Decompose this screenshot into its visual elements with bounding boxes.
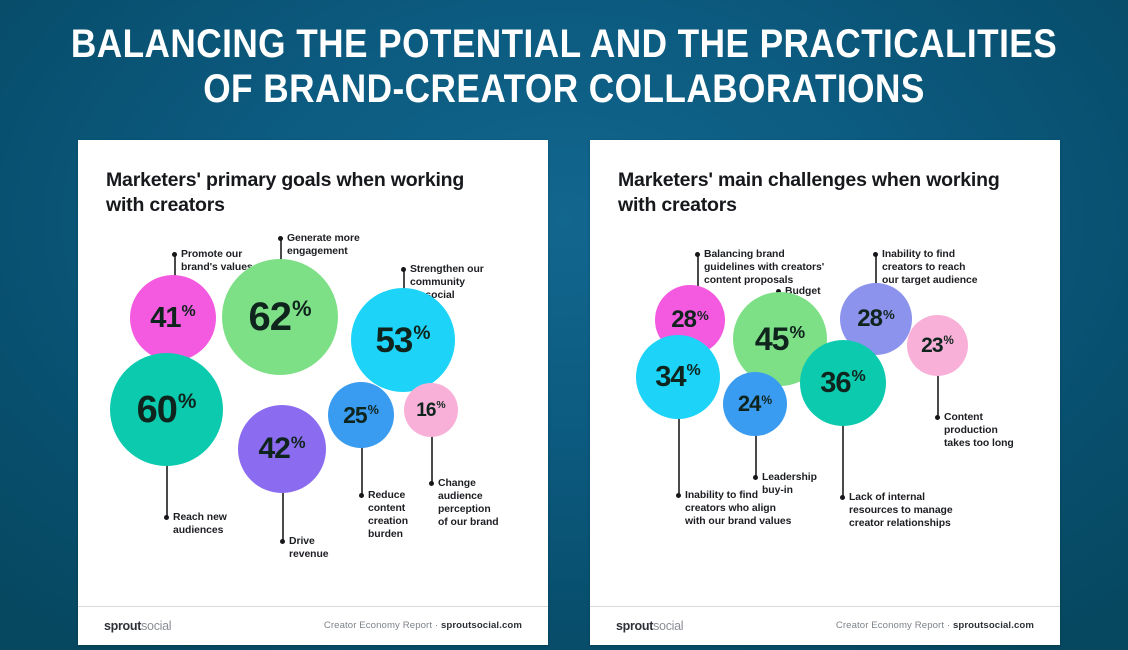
bubble-value-16: 16 bbox=[416, 401, 435, 420]
bubble-value-28-balancing: 28 bbox=[671, 308, 696, 332]
bubble-label-inability-find-creators-audience: Inability to find creators to reach our … bbox=[882, 248, 1037, 287]
leader-dot-inability-creators-align bbox=[676, 493, 681, 498]
panel-right-chart: Balancing brand guidelines with creators… bbox=[590, 235, 1060, 607]
bubble-value-23: 23 bbox=[921, 335, 942, 356]
bubble-value-28-inability: 28 bbox=[857, 307, 882, 331]
panel-left-heading: Marketers' primary goals when working wi… bbox=[106, 168, 506, 218]
leader-dot-balancing-brand-guidelines bbox=[695, 252, 700, 257]
logo-social: social bbox=[141, 619, 171, 633]
leader-dot-generate-engagement bbox=[278, 236, 283, 241]
leader-dot-reduce-content-burden bbox=[359, 493, 364, 498]
bubble-42-percent[interactable]: 42% bbox=[238, 405, 326, 493]
bubble-unit-42: % bbox=[291, 435, 306, 452]
panel-main-challenges: Marketers' main challenges when working … bbox=[590, 140, 1060, 645]
bubble-label-lack-internal-resources: Lack of internal resources to manage cre… bbox=[849, 491, 1014, 530]
bubble-60-percent[interactable]: 60% bbox=[110, 353, 223, 466]
leader-dot-leadership-buyin bbox=[753, 475, 758, 480]
bubble-value-45: 45 bbox=[755, 323, 789, 355]
bubble-label-reduce-content-burden: Reduce content creation burden bbox=[368, 489, 448, 541]
panel-left-footer: sproutsocial Creator Economy Report · sp… bbox=[78, 606, 548, 645]
bubble-53-percent[interactable]: 53% bbox=[351, 288, 455, 392]
leader-dot-content-production bbox=[935, 415, 940, 420]
leader-dot-inability-find-creators-audience bbox=[873, 252, 878, 257]
bubble-unit-41: % bbox=[182, 304, 196, 320]
panel-left-chart: Promote our brand's values 41% Generate … bbox=[78, 235, 548, 607]
credit-report-name-right: Creator Economy Report · bbox=[836, 620, 953, 631]
leader-dot-lack-internal-resources bbox=[840, 495, 845, 500]
panel-right-credit: Creator Economy Report · sproutsocial.co… bbox=[836, 620, 1034, 631]
bubble-value-36: 36 bbox=[820, 369, 850, 398]
leader-dot-strengthen-community bbox=[401, 267, 406, 272]
leader-line-lack-internal-resources bbox=[842, 425, 844, 497]
bubble-value-62: 62 bbox=[248, 297, 291, 337]
sproutsocial-logo: sproutsocial bbox=[104, 619, 171, 633]
bubble-unit-53: % bbox=[413, 324, 430, 343]
bubble-unit-36: % bbox=[852, 369, 866, 385]
bubble-unit-28-balancing: % bbox=[697, 309, 709, 322]
bubble-label-balancing-brand-guidelines: Balancing brand guidelines with creators… bbox=[704, 248, 864, 287]
bubble-16-percent[interactable]: 16% bbox=[404, 383, 458, 437]
bubble-value-53: 53 bbox=[375, 323, 412, 358]
bubble-62-percent[interactable]: 62% bbox=[222, 259, 338, 375]
panel-primary-goals: Marketers' primary goals when working wi… bbox=[78, 140, 548, 645]
panel-right-footer: sproutsocial Creator Economy Report · sp… bbox=[590, 606, 1060, 645]
leader-dot-reach-new-audiences bbox=[164, 515, 169, 520]
leader-line-reduce-content-burden bbox=[361, 447, 363, 495]
main-title: Balancing the potential and the practica… bbox=[0, 22, 1128, 112]
bubble-label-reach-new-audiences: Reach new audiences bbox=[173, 511, 293, 537]
bubble-23-percent[interactable]: 23% bbox=[907, 315, 968, 376]
leader-line-inability-creators-align bbox=[678, 417, 680, 495]
logo-sprout-right: sprout bbox=[616, 619, 653, 633]
bubble-value-34: 34 bbox=[655, 363, 685, 392]
bubble-label-change-perception: Change audience perception of our brand bbox=[438, 477, 533, 529]
bubble-value-42: 42 bbox=[258, 434, 289, 464]
bubble-label-generate-engagement: Generate more engagement bbox=[287, 232, 427, 258]
logo-social-right: social bbox=[653, 619, 683, 633]
bubble-value-60: 60 bbox=[137, 391, 177, 429]
leader-line-change-perception bbox=[431, 435, 433, 483]
bubble-34-percent[interactable]: 34% bbox=[636, 335, 720, 419]
credit-report-name: Creator Economy Report · bbox=[324, 620, 441, 631]
title-line-1: Balancing the potential and the practica… bbox=[68, 22, 1061, 67]
leader-dot-drive-revenue bbox=[280, 539, 285, 544]
leader-line-reach-new-audiences bbox=[166, 465, 168, 517]
bubble-unit-45: % bbox=[789, 324, 805, 342]
bubble-41-percent[interactable]: 41% bbox=[130, 275, 216, 361]
bubble-label-content-production: Content production takes too long bbox=[944, 411, 1054, 450]
bubble-unit-28-inability: % bbox=[883, 308, 895, 321]
bubble-unit-62: % bbox=[292, 298, 312, 320]
leader-dot-promote-brand-values bbox=[172, 252, 177, 257]
panel-right-heading: Marketers' main challenges when working … bbox=[618, 168, 1018, 218]
bubble-unit-23: % bbox=[944, 336, 954, 348]
bubble-value-25: 25 bbox=[343, 404, 367, 427]
title-line-2: of brand-creator collaborations bbox=[68, 67, 1061, 112]
bubble-unit-24: % bbox=[761, 394, 772, 406]
leader-dot-change-perception bbox=[429, 481, 434, 486]
bubble-unit-34: % bbox=[687, 363, 701, 379]
infographic-canvas: Balancing the potential and the practica… bbox=[0, 0, 1128, 650]
bubble-24-percent[interactable]: 24% bbox=[723, 372, 787, 436]
panel-left-credit: Creator Economy Report · sproutsocial.co… bbox=[324, 620, 522, 631]
bubble-unit-25: % bbox=[368, 404, 379, 417]
bubble-unit-60: % bbox=[178, 392, 197, 413]
bubble-value-24: 24 bbox=[738, 393, 760, 415]
credit-website: sproutsocial.com bbox=[441, 620, 522, 631]
bubble-unit-16: % bbox=[436, 401, 445, 411]
bubble-25-percent[interactable]: 25% bbox=[328, 382, 394, 448]
leader-line-drive-revenue bbox=[282, 493, 284, 541]
sproutsocial-logo-right: sproutsocial bbox=[616, 619, 683, 633]
leader-line-leadership-buyin bbox=[755, 435, 757, 477]
bubble-value-41: 41 bbox=[150, 304, 180, 333]
logo-sprout: sprout bbox=[104, 619, 141, 633]
bubble-36-percent[interactable]: 36% bbox=[800, 340, 886, 426]
credit-website-right: sproutsocial.com bbox=[953, 620, 1034, 631]
leader-line-content-production bbox=[937, 375, 939, 417]
